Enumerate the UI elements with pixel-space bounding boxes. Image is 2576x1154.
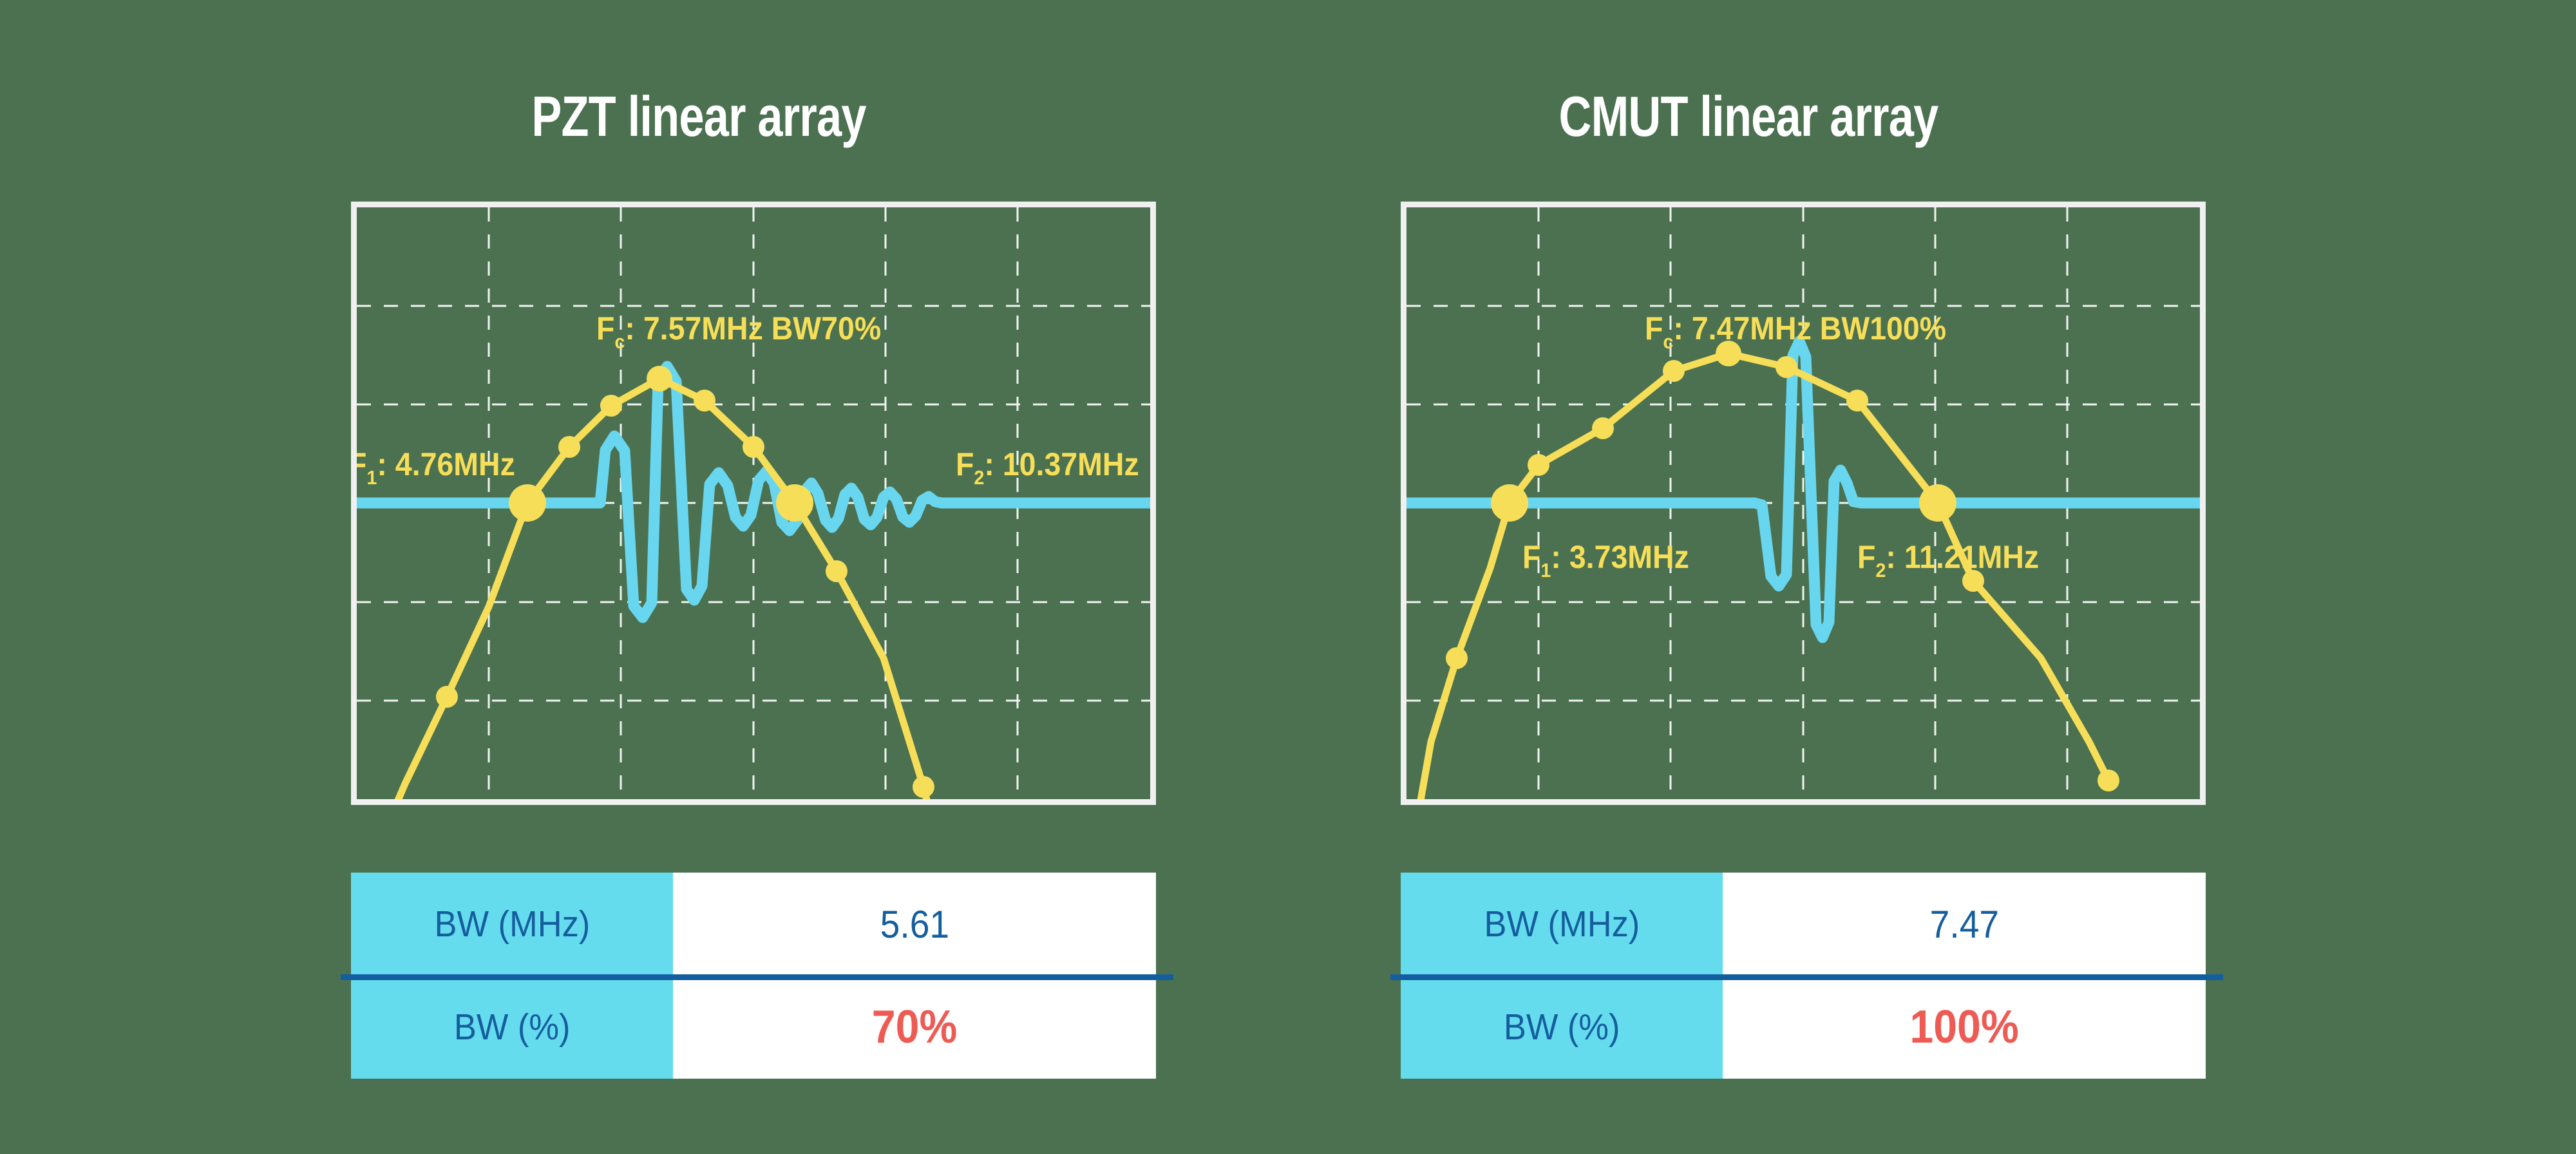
svg-text:F2: 11.21MHz: F2: 11.21MHz — [1857, 539, 2039, 582]
bw-mhz-label: BW (MHz) — [1484, 903, 1640, 945]
annotation-center-sub-pzt: c — [614, 331, 625, 353]
bw-pct-value-cell: 70% — [673, 976, 1156, 1079]
annotation-f1-symbol-cmut: F — [1522, 539, 1540, 575]
annotation-center-text-cmut: : 7.47MHz BW100% — [1673, 310, 1946, 346]
svg-text:F2: 10.37MHz: F2: 10.37MHz — [956, 446, 1139, 489]
annotation-f1-text-cmut: : 3.73MHz — [1551, 539, 1689, 575]
table-row: BW (MHz) 7.47 — [1401, 873, 2206, 976]
frequency-response-cmut — [1412, 354, 2108, 799]
panel-pzt: PZT linear array — [283, 0, 1314, 1154]
svg-text:F1: 3.73MHz: F1: 3.73MHz — [1522, 539, 1689, 582]
annotation-f2-text-cmut: : 11.21MHz — [1886, 539, 2039, 575]
panel-title-pzt: PZT linear array — [366, 84, 1031, 149]
svg-text:F1: 4.76MHz: F1: 4.76MHz — [357, 446, 515, 489]
bw-mhz-value-cell: 7.47 — [1723, 873, 2206, 976]
bw-pct-label-cell: BW (%) — [1401, 976, 1723, 1079]
table-divider — [341, 974, 1173, 980]
annotation-f2-cmut: F2: 11.21MHz — [1857, 539, 2039, 582]
annotation-center-symbol-pzt: F — [596, 310, 614, 346]
bw-mhz-value: 7.47 — [1929, 902, 1998, 947]
chart-svg-cmut: Fc: 7.47MHz BW100% F1: 3.73MHz F2: 11.21… — [1406, 207, 2200, 799]
chart-pzt: Fc: 7.57MHz BW70% F1: 4.76MHz F2: 10.37M… — [351, 202, 1156, 805]
panel-title-cmut: CMUT linear array — [1416, 84, 2081, 149]
chart-svg-pzt: Fc: 7.57MHz BW70% F1: 4.76MHz F2: 10.37M… — [357, 207, 1150, 799]
bw-pct-label: BW (%) — [454, 1006, 571, 1048]
annotation-center-sub-cmut: c — [1663, 331, 1673, 353]
annotation-f2-symbol-cmut: F — [1857, 539, 1875, 575]
table-divider — [1390, 974, 2223, 980]
chart-cmut: Fc: 7.47MHz BW100% F1: 3.73MHz F2: 11.21… — [1401, 202, 2206, 805]
chart-plot-area-cmut: Fc: 7.47MHz BW100% F1: 3.73MHz F2: 11.21… — [1406, 207, 2200, 799]
annotation-center-cmut: Fc: 7.47MHz BW100% — [1645, 310, 1946, 353]
annotation-f2-sub-cmut: 2 — [1875, 560, 1886, 582]
bw-pct-value: 70% — [872, 1001, 958, 1054]
svg-text:Fc: 7.57MHz BW70%: Fc: 7.57MHz BW70% — [596, 310, 881, 353]
annotation-center-text-pzt: : 7.57MHz BW70% — [625, 310, 881, 346]
annotation-f1-pzt: F1: 4.76MHz — [357, 446, 515, 489]
bw-mhz-label-cell: BW (MHz) — [1401, 873, 1723, 976]
bw-pct-label: BW (%) — [1504, 1006, 1620, 1048]
bw-mhz-value-cell: 5.61 — [673, 873, 1156, 976]
bw-table-pzt: BW (MHz) 5.61 BW (%) 70% — [351, 873, 1156, 1079]
annotation-f1-text-pzt: : 4.76MHz — [377, 446, 515, 482]
annotation-f2-pzt: F2: 10.37MHz — [956, 446, 1139, 489]
bw-mhz-label: BW (MHz) — [434, 903, 590, 945]
annotation-center-symbol-cmut: F — [1645, 310, 1663, 346]
annotation-f2-text-pzt: : 10.37MHz — [984, 446, 1139, 482]
infographic-root: PZT linear array — [0, 0, 2576, 1154]
bw-pct-value-cell: 100% — [1723, 976, 2206, 1079]
bw-pct-value: 100% — [1909, 1001, 2018, 1054]
annotation-center-pzt: Fc: 7.57MHz BW70% — [596, 310, 881, 353]
chart-plot-area-pzt: Fc: 7.57MHz BW70% F1: 4.76MHz F2: 10.37M… — [357, 207, 1150, 799]
bw-mhz-label-cell: BW (MHz) — [351, 873, 673, 976]
bw-mhz-value: 5.61 — [880, 902, 949, 947]
annotation-f1-cmut: F1: 3.73MHz — [1522, 539, 1689, 582]
table-row: BW (%) 100% — [1401, 976, 2206, 1079]
annotation-f2-symbol-pzt: F — [956, 446, 974, 482]
bw-table-cmut: BW (MHz) 7.47 BW (%) 100% — [1401, 873, 2206, 1079]
svg-text:Fc: 7.47MHz BW100%: Fc: 7.47MHz BW100% — [1645, 310, 1946, 353]
table-row: BW (MHz) 5.61 — [351, 873, 1156, 976]
annotation-f1-sub-pzt: 1 — [366, 467, 377, 489]
bw-pct-label-cell: BW (%) — [351, 976, 673, 1079]
table-row: BW (%) 70% — [351, 976, 1156, 1079]
panel-cmut: CMUT linear array — [1333, 0, 2363, 1154]
annotation-f1-symbol-pzt: F — [357, 446, 366, 482]
annotation-f1-sub-cmut: 1 — [1540, 560, 1551, 582]
annotation-f2-sub-pzt: 2 — [974, 467, 984, 489]
